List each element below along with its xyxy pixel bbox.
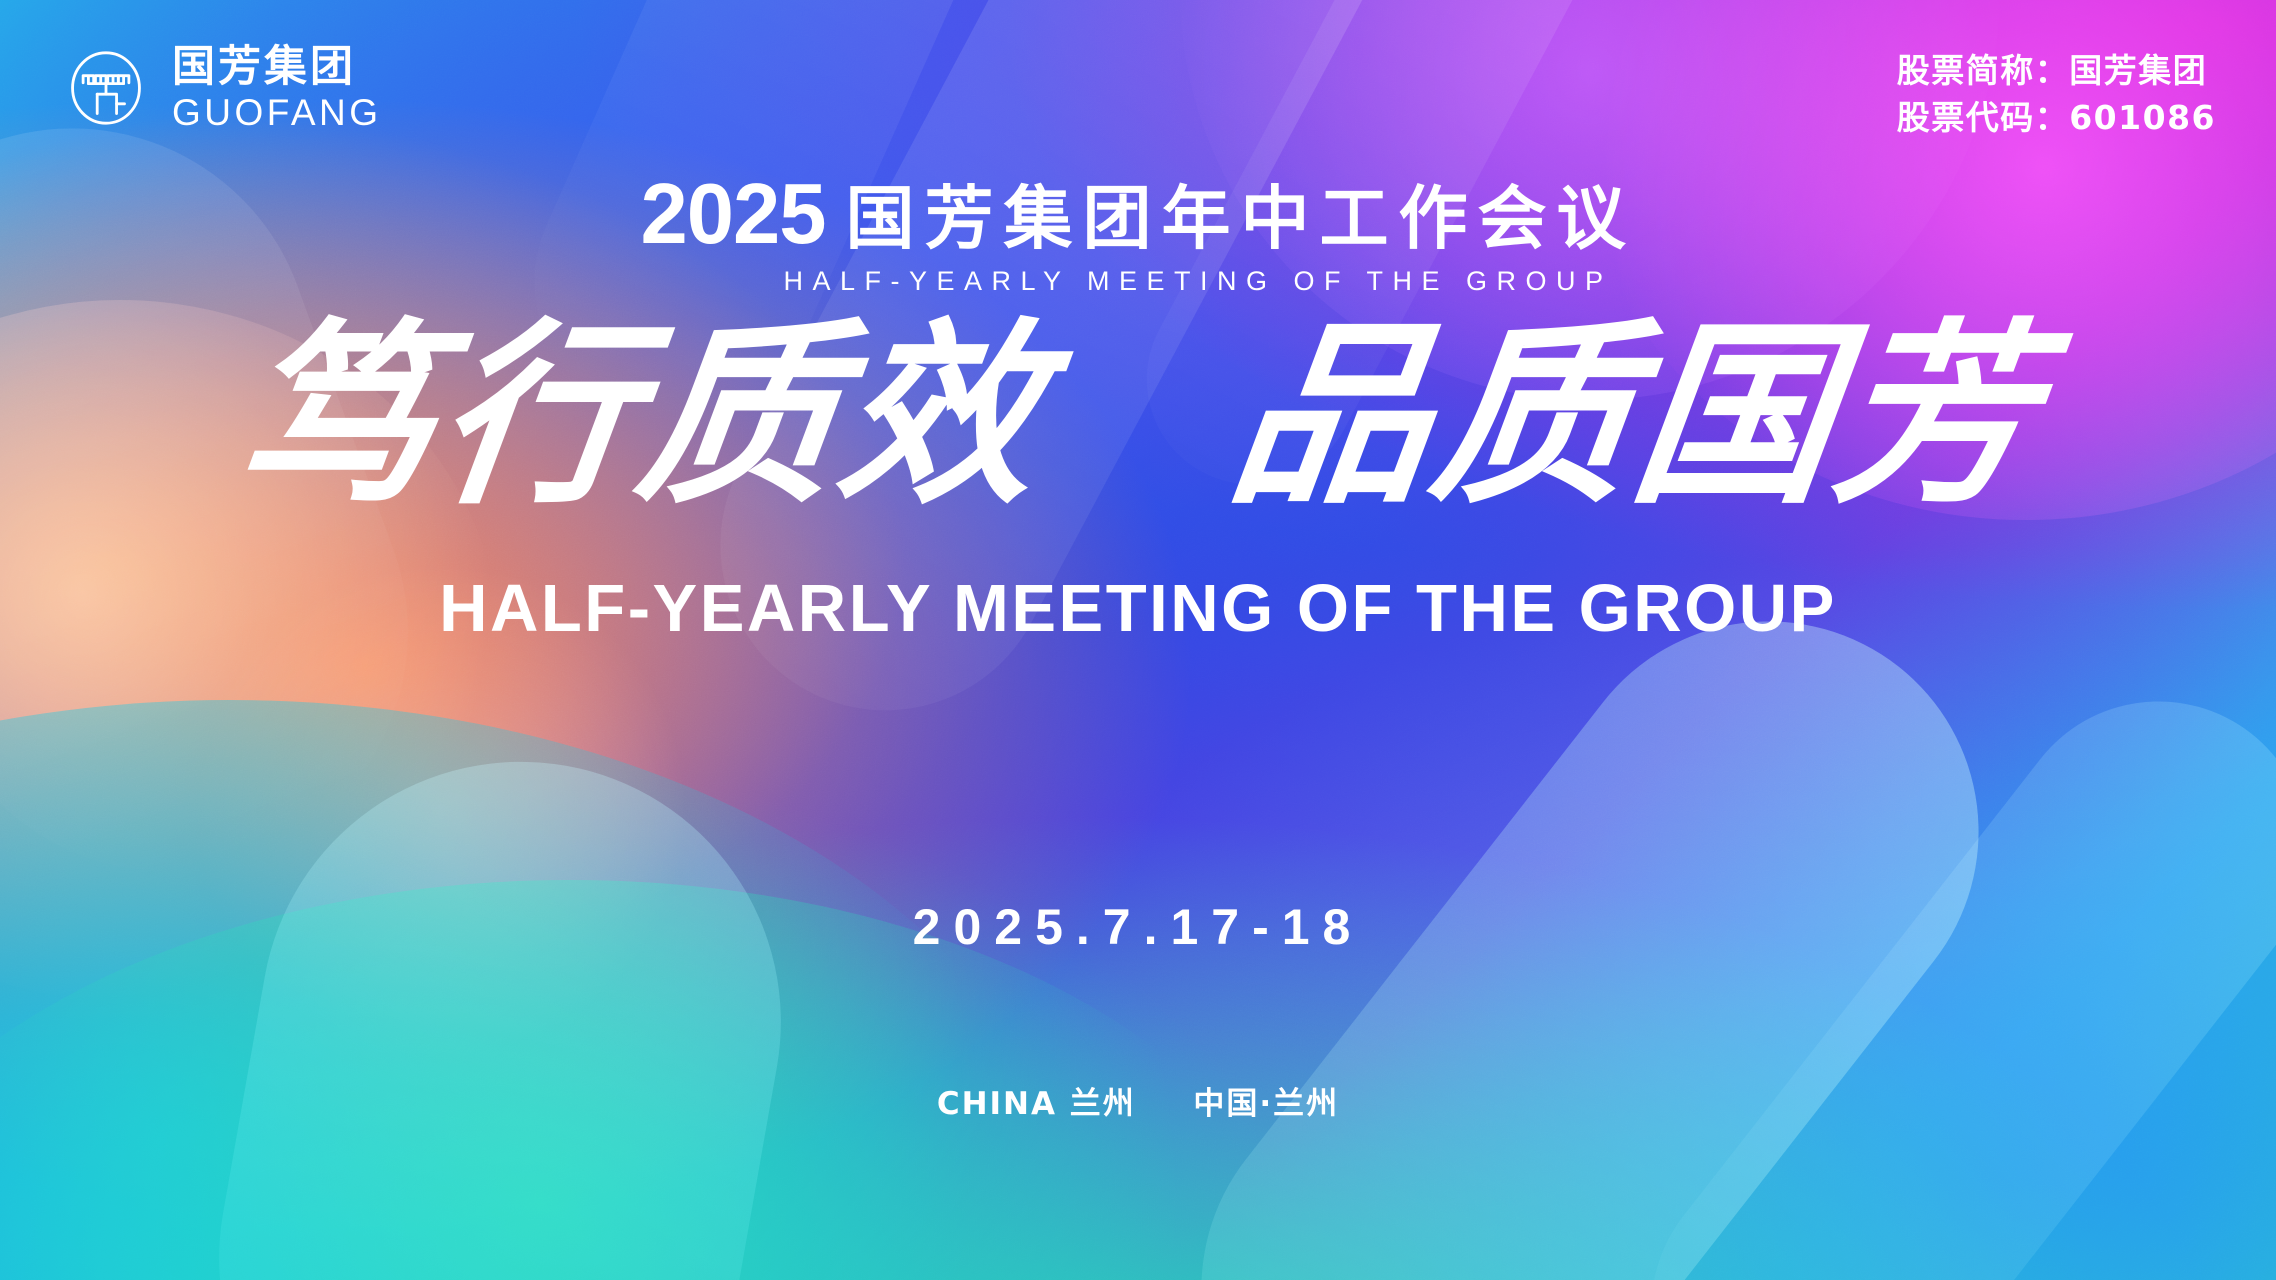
hero-slogan-en: HALF-YEARLY MEETING OF THE GROUP: [0, 570, 2276, 647]
conference-title-cn: 国芳集团年中工作会议: [846, 185, 1636, 254]
brand-logo: 国芳集团 GUOFANG: [62, 44, 382, 132]
deer-emblem-circle-icon: [62, 44, 150, 132]
conference-title-row: 2025 国芳集团年中工作会议: [640, 176, 1635, 254]
brand-name-en: GUOFANG: [172, 94, 382, 131]
hero-slogan-part2: 品质国芳: [1220, 302, 2052, 531]
stock-name-line: 股票简称：国芳集团: [1897, 48, 2216, 95]
banner-content: 国芳集团 GUOFANG 股票简称：国芳集团 股票代码：601086 2025 …: [0, 0, 2276, 1280]
event-location-cn: 中国·兰州: [1193, 1086, 1339, 1122]
brand-wordmark: 国芳集团 GUOFANG: [172, 46, 382, 131]
event-location-en: CHINA 兰州: [937, 1086, 1136, 1122]
event-location: CHINA 兰州 中国·兰州: [0, 1078, 2276, 1123]
event-date: 2025.7.17-18: [0, 898, 2276, 956]
brand-name-cn: 国芳集团: [172, 46, 382, 89]
conference-title-block: 2025 国芳集团年中工作会议 HALF-YEARLY MEETING OF T…: [0, 176, 2276, 297]
hero-slogan: 笃行质效 品质国芳: [0, 318, 2276, 515]
conference-year: 2025: [640, 176, 825, 254]
conference-title-en: HALF-YEARLY MEETING OF THE GROUP: [120, 266, 2276, 297]
stock-info: 股票简称：国芳集团 股票代码：601086: [1897, 48, 2216, 142]
stock-code-line: 股票代码：601086: [1897, 95, 2216, 142]
conference-banner: 国芳集团 GUOFANG 股票简称：国芳集团 股票代码：601086 2025 …: [0, 0, 2276, 1280]
hero-slogan-part1: 笃行质效: [224, 302, 1056, 531]
